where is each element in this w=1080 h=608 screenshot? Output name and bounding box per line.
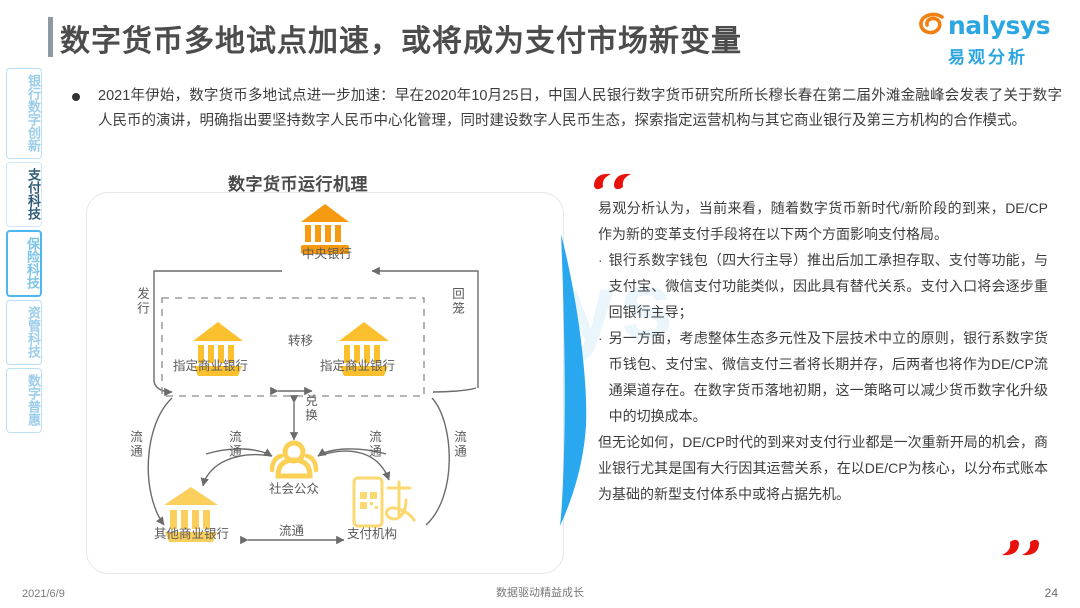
logo-wordmark: nalysys (948, 13, 1050, 38)
intro-bullet-text: 2021年伊始，数字货币多地试点进一步加速：早在2020年10月25日，中国人民… (98, 84, 1062, 134)
sidebar-item-payment-tech[interactable]: 支付科技 (6, 162, 42, 227)
edge-label-circulate-outer-left: 流通 (126, 430, 145, 459)
commentary-bullet-1: · 银行系数字钱包（四大行主导）推出后加工承担存取、支付等功能，与支付宝、微信支… (598, 247, 1048, 325)
quote-close-icon (1000, 536, 1042, 558)
sidebar-item-bank-digital-innovation[interactable]: 银行数字创新 (6, 68, 42, 159)
edge-label-circulate-bottom: 流通 (279, 520, 304, 539)
node-label-public: 社会公众 (269, 478, 319, 497)
commentary-column: 易观分析认为，当前来看，随着数字货币新时代/新阶段的到来，DE/CP作为新的变革… (598, 195, 1048, 507)
node-label-designated-bank-right: 指定商业银行 (320, 355, 395, 374)
bullet-dot-icon (72, 93, 80, 101)
page-title: 数字货币多地试点加速，或将成为支付市场新变量 (60, 16, 742, 60)
quote-open-icon (592, 172, 634, 194)
node-label-payment-org: 支付机构 (347, 523, 397, 542)
node-label-central-bank: 中央银行 (302, 243, 352, 262)
bullet-marker-icon: · (598, 247, 603, 325)
edge-label-circulate-public-left: 流通 (225, 430, 244, 459)
sidebar-item-asset-management-tech[interactable]: 资管科技 (6, 300, 42, 365)
footer-page-number: 24 (1045, 586, 1058, 600)
edge-label-transfer: 转移 (288, 330, 313, 349)
commentary-bullet-1-text: 银行系数字钱包（四大行主导）推出后加工承担存取、支付等功能，与支付宝、微信支付功… (609, 247, 1048, 325)
logo-chinese-name: 易观分析 (918, 43, 1058, 68)
edge-label-issue: 发行 (133, 287, 152, 316)
node-label-designated-bank-left: 指定商业银行 (173, 355, 248, 374)
node-label-other-bank: 其他商业银行 (154, 523, 229, 542)
analysys-logo: nalysys 易观分析 (918, 10, 1058, 68)
blue-lens-divider (556, 230, 592, 530)
bullet-marker-icon: · (598, 325, 603, 429)
title-accent-bar (48, 17, 53, 57)
edge-label-exchange: 兑换 (301, 394, 320, 423)
payment-org-alipay-icon (354, 478, 414, 526)
footer-date: 2021/6/9 (22, 588, 65, 600)
commentary-bullet-2-text: 另一方面，考虑整体生态多元性及下层技术中立的原则，银行系数字货币钱包、支付宝、微… (609, 325, 1048, 429)
category-sidebar: 银行数字创新 支付科技 保险科技 资管科技 数字普惠 (6, 68, 42, 436)
sidebar-item-digital-inclusive-finance[interactable]: 数字普惠 (6, 368, 42, 433)
commentary-paragraph-1: 易观分析认为，当前来看，随着数字货币新时代/新阶段的到来，DE/CP作为新的变革… (598, 195, 1048, 247)
logo-swoosh-icon (918, 10, 948, 40)
public-people-icon (272, 443, 316, 476)
edge-label-withdraw: 回笼 (448, 287, 467, 316)
sidebar-item-insurance-tech[interactable]: 保险科技 (6, 230, 42, 297)
commentary-bullet-2: · 另一方面，考虑整体生态多元性及下层技术中立的原则，银行系数字货币钱包、支付宝… (598, 325, 1048, 429)
edge-label-circulate-outer-right: 流通 (450, 430, 469, 459)
intro-bullet-block: 2021年伊始，数字货币多地试点进一步加速：早在2020年10月25日，中国人民… (72, 84, 1062, 134)
footer-tagline: 数据驱动精益成长 (496, 584, 584, 600)
commentary-paragraph-2: 但无论如何，DE/CP时代的到来对支付行业都是一次重新开局的机会，商业银行尤其是… (598, 429, 1048, 507)
edge-label-circulate-public-right: 流通 (365, 430, 384, 459)
